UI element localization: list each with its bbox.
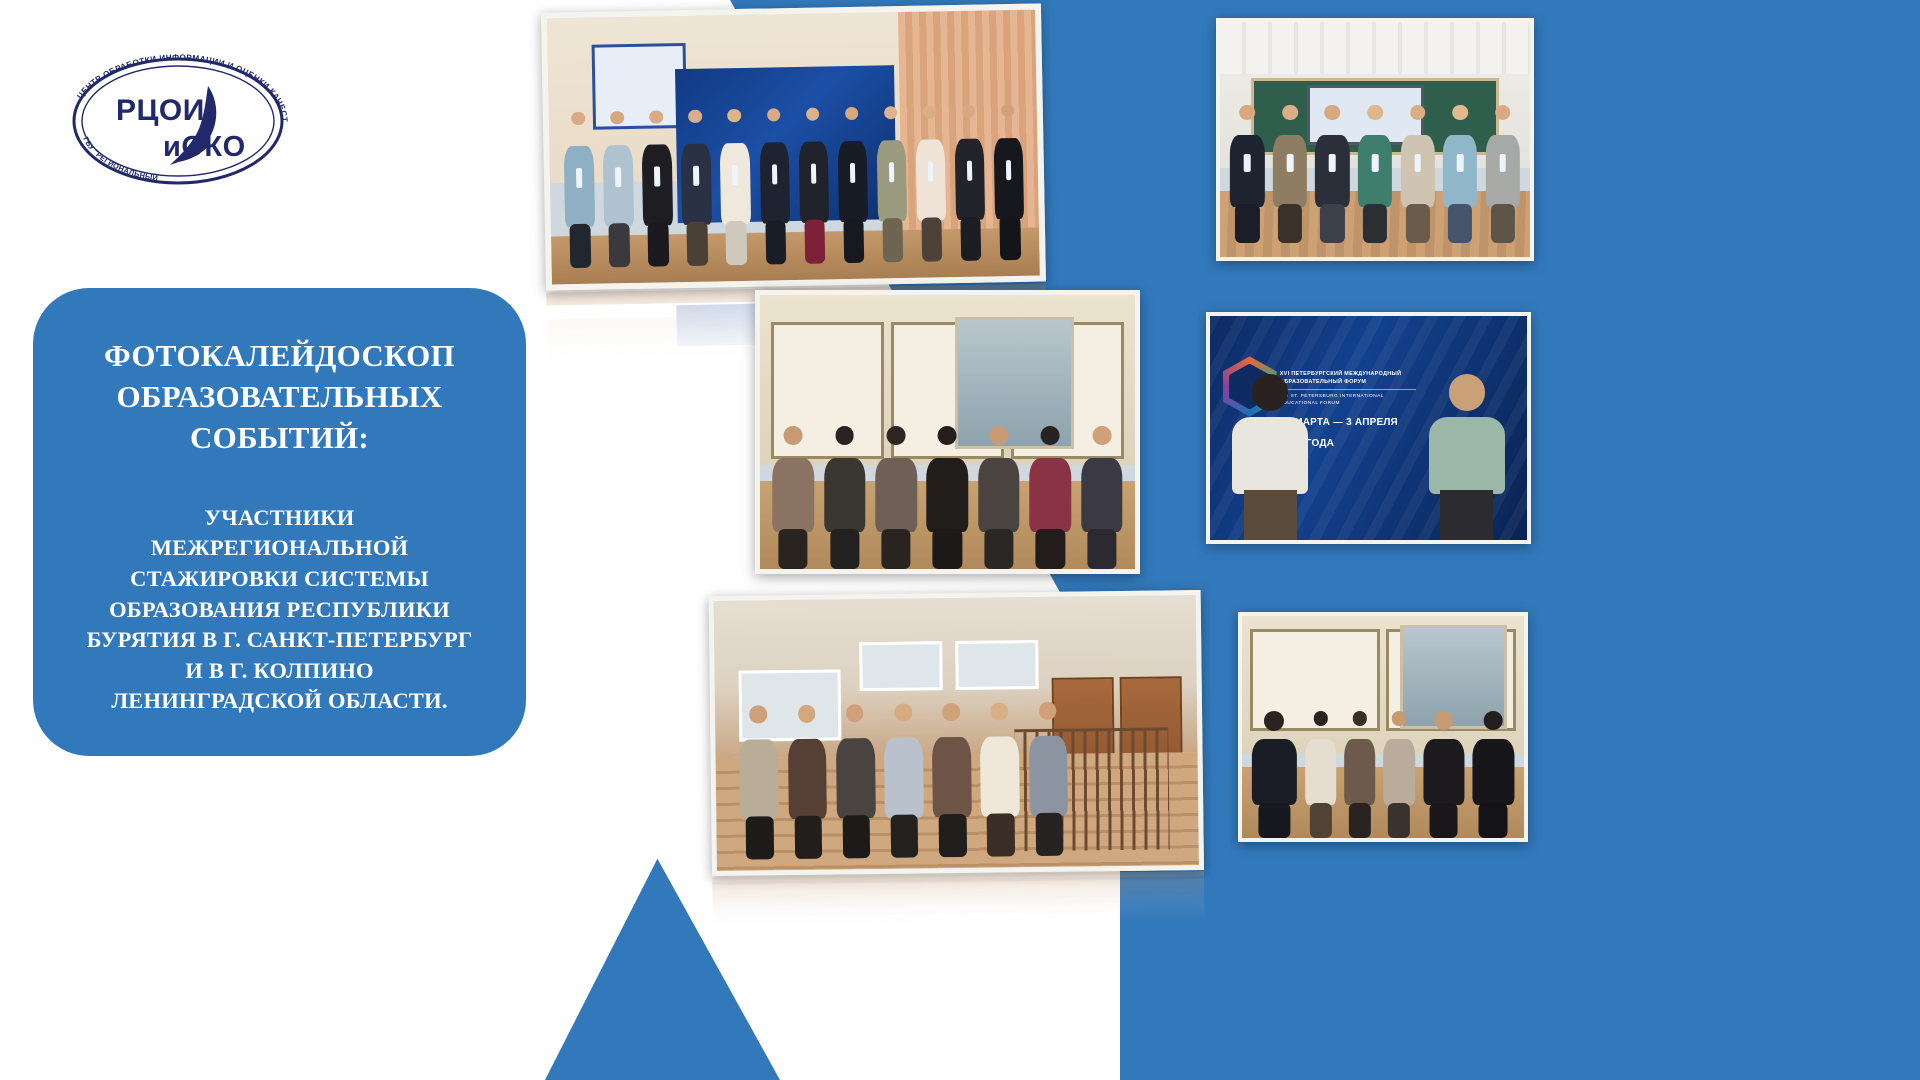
slide-subtitle-line-5: БУРЯТИЯ В Г. САНКТ-ПЕТЕРБУРГ [54, 625, 506, 656]
rcoi-ioko-logo: ЦЕНТР ОБРАБОТКИ ИНФОРМАЦИИ И ОЦЕНКИ КАЧЕ… [58, 48, 298, 193]
slide-title-line-1: ФОТОКАЛЕЙДОСКОП [60, 336, 500, 377]
group-photo-school-entrance-steps[interactable] [709, 590, 1204, 876]
svg-text:ГБУ "РЕГИОНАЛЬНЫЙ: ГБУ "РЕГИОНАЛЬНЫЙ [81, 135, 158, 182]
slide-subtitle-line-3: СТАЖИРОВКИ СИСТЕМЫ [54, 564, 506, 595]
logo-ring-bottom-text: ГБУ "РЕГИОНАЛЬНЫЙ [81, 135, 158, 182]
group-photo-classroom-awards[interactable] [1216, 18, 1534, 261]
slide-title-line-2: ОБРАЗОВАТЕЛЬНЫХ [60, 377, 500, 418]
slide-subtitle: УЧАСТНИКИ МЕЖРЕГИОНАЛЬНОЙ СТАЖИРОВКИ СИС… [54, 503, 506, 717]
group-photo-exhibition-discussion[interactable] [1238, 612, 1528, 842]
group-photo-school-entrance-steps-reflection [712, 871, 1205, 927]
slide-title: ФОТОКАЛЕЙДОСКОП ОБРАЗОВАТЕЛЬНЫХ СОБЫТИЙ: [60, 336, 500, 459]
slide-title-line-3: СОБЫТИЙ: [60, 418, 500, 459]
slide-subtitle-line-1: УЧАСТНИКИ [54, 503, 506, 534]
logo-center-top: РЦОИ [116, 94, 205, 127]
caption-card: ФОТОКАЛЕЙДОСКОП ОБРАЗОВАТЕЛЬНЫХ СОБЫТИЙ:… [33, 288, 526, 756]
slide-root: ЦЕНТР ОБРАБОТКИ ИНФОРМАЦИИ И ОЦЕНКИ КАЧЕ… [0, 0, 1920, 1080]
slide-subtitle-line-7: ЛЕНИНГРАДСКОЙ ОБЛАСТИ. [54, 686, 506, 717]
slide-subtitle-line-6: И В Г. КОЛПИНО [54, 656, 506, 687]
group-photo-conference-hall[interactable] [541, 3, 1046, 290]
photo-forum-banner[interactable]: XVI ПЕТЕРБУРГСКИЙ МЕЖДУНАРОДНЫЙ ОБРАЗОВА… [1206, 312, 1531, 544]
slide-subtitle-line-4: ОБРАЗОВАНИЯ РЕСПУБЛИКИ [54, 595, 506, 626]
group-photo-museum-exhibition[interactable] [755, 290, 1140, 574]
logo-center-bottom: иОКО [163, 131, 246, 163]
slide-subtitle-line-2: МЕЖРЕГИОНАЛЬНОЙ [54, 533, 506, 564]
